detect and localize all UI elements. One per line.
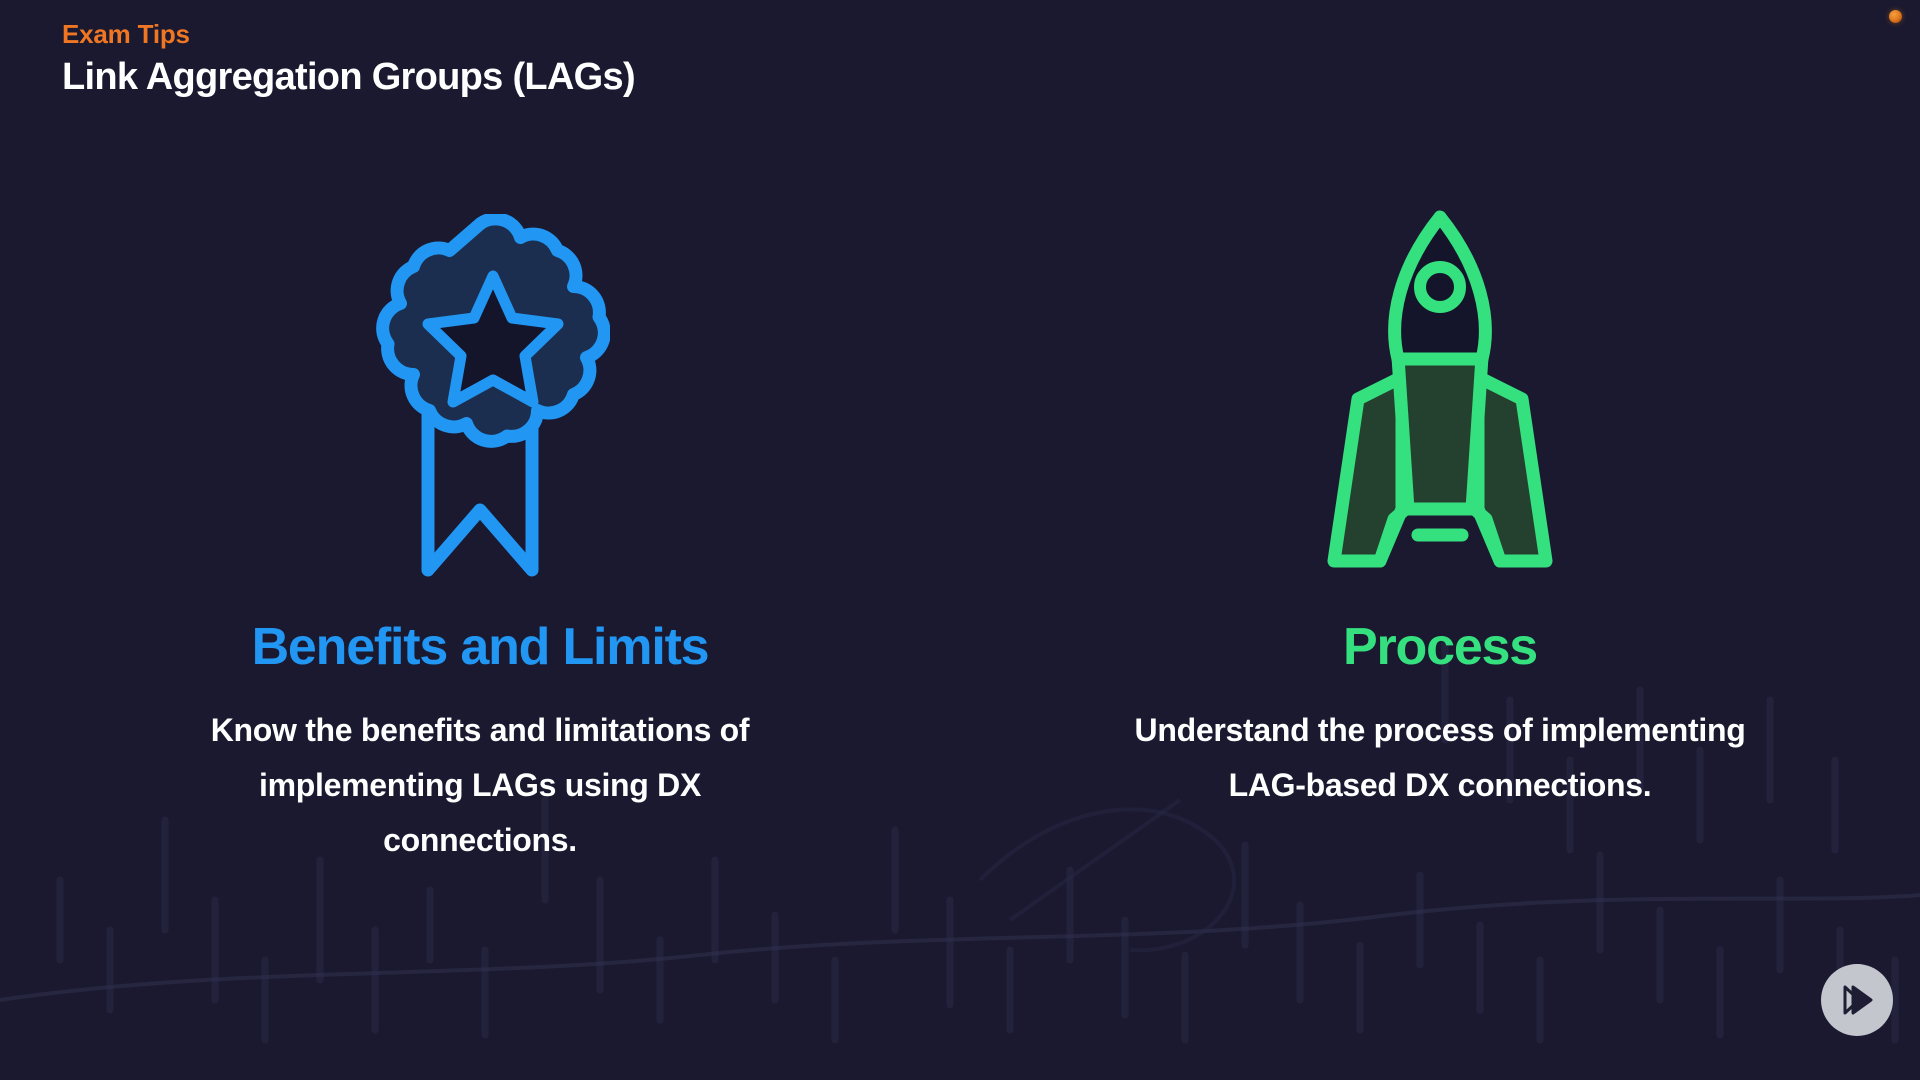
page-title: Link Aggregation Groups (LAGs) (62, 57, 635, 99)
content-columns: Benefits and Limits Know the benefits an… (0, 200, 1920, 868)
column-heading-process: Process (1343, 620, 1537, 675)
rocket-icon-wrap (1320, 200, 1560, 600)
eyebrow-label: Exam Tips (62, 20, 635, 49)
corner-accent-dot (1889, 10, 1902, 23)
column-body-benefits: Know the benefits and limitations of imp… (160, 703, 800, 868)
header: Exam Tips Link Aggregation Groups (LAGs) (62, 20, 635, 98)
column-process: Process Understand the process of implem… (960, 200, 1920, 813)
award-ribbon-icon (350, 214, 610, 586)
rocket-icon (1320, 209, 1560, 591)
award-ribbon-icon-wrap (350, 200, 610, 600)
column-body-process: Understand the process of implementing L… (1120, 703, 1760, 813)
play-forward-icon (1837, 983, 1877, 1017)
play-forward-button[interactable] (1821, 964, 1893, 1036)
column-benefits-and-limits: Benefits and Limits Know the benefits an… (0, 200, 960, 868)
column-heading-benefits: Benefits and Limits (252, 620, 709, 675)
slide-root: Exam Tips Link Aggregation Groups (LAGs)… (0, 0, 1920, 1080)
